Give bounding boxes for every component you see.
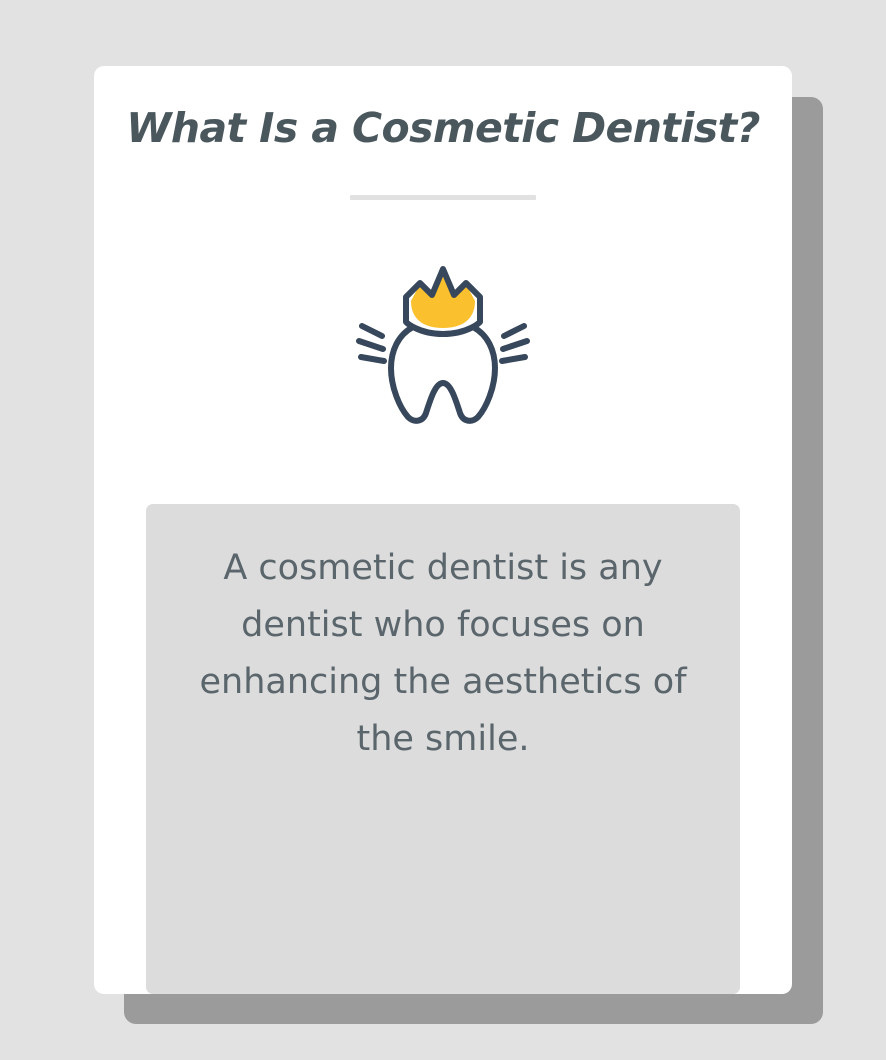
description-text: A cosmetic dentist is any dentist who fo…	[172, 540, 714, 768]
title-divider	[350, 195, 536, 200]
tooth-outline	[391, 327, 495, 421]
tooth-with-crown-icon	[354, 256, 532, 432]
icon-container	[94, 256, 792, 432]
sparkle-lines-left	[359, 326, 384, 361]
description-panel: A cosmetic dentist is any dentist who fo…	[146, 504, 740, 994]
slide-canvas: What Is a Cosmetic Dentist?	[0, 0, 886, 1060]
page-title: What Is a Cosmetic Dentist?	[94, 104, 792, 152]
content-card: What Is a Cosmetic Dentist?	[94, 66, 792, 994]
sparkle-lines-right	[502, 326, 527, 361]
